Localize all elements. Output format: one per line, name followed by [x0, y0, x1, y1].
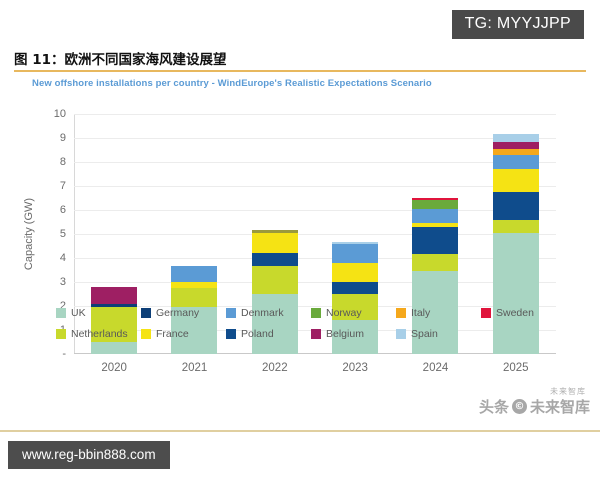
x-tick-label: 2020 [101, 362, 127, 374]
chart-subtitle: New offshore installations per country -… [32, 78, 432, 89]
legend-label: Germany [156, 307, 199, 319]
bar-segment-poland[interactable] [493, 192, 539, 220]
bar-segment-poland[interactable] [332, 282, 378, 294]
bar-segment-belgium[interactable] [493, 142, 539, 149]
y-tick-label: 10 [54, 108, 66, 120]
bar-segment-denmark[interactable] [412, 209, 458, 223]
legend-item-italy[interactable]: Italy [396, 307, 481, 319]
bar-segment-denmark[interactable] [171, 266, 217, 282]
y-tick-label: 9 [60, 132, 66, 144]
legend-item-denmark[interactable]: Denmark [226, 307, 311, 319]
y-tick-label: - [62, 348, 66, 360]
legend-item-germany[interactable]: Germany [141, 307, 226, 319]
legend-label: Netherlands [71, 328, 128, 340]
y-tick-label: 5 [60, 228, 66, 240]
cn-site-name: 未来智库 [530, 396, 590, 417]
y-tick-label: 7 [60, 180, 66, 192]
legend-swatch-icon [481, 308, 491, 318]
page-root: TG: MYYJJPP 图 11：欧洲不同国家海风建设展望 New offsho… [0, 0, 600, 480]
x-tick-label: 2024 [423, 362, 449, 374]
legend-swatch-icon [396, 308, 406, 318]
legend-swatch-icon [141, 329, 151, 339]
figure-title: 图 11：欧洲不同国家海风建设展望 [14, 48, 227, 68]
y-tick-label: 6 [60, 204, 66, 216]
legend-swatch-icon [226, 308, 236, 318]
cn-site-label: 头条 [479, 396, 509, 417]
x-tick-label: 2021 [182, 362, 208, 374]
legend-label: Italy [411, 307, 430, 319]
legend-label: Norway [326, 307, 362, 319]
x-tick-label: 2023 [342, 362, 368, 374]
legend-label: Sweden [496, 307, 534, 319]
legend-item-poland[interactable]: Poland [226, 328, 311, 340]
chart-legend: UKGermanyDenmarkNorwayItalySwedenNetherl… [56, 302, 566, 344]
legend-label: France [156, 328, 189, 340]
chart-panel: New offshore installations per country -… [14, 74, 586, 422]
bar-segment-poland[interactable] [252, 253, 298, 266]
y-axis-title: Capacity (GW) [22, 114, 36, 354]
y-tick-label: 4 [60, 252, 66, 264]
x-tick-label: 2022 [262, 362, 288, 374]
bar-segment-netherlands[interactable] [412, 254, 458, 271]
url-watermark: www.reg-bbin888.com [8, 441, 170, 469]
copyright-icon: © [512, 399, 527, 414]
bar-segment-norway[interactable] [412, 200, 458, 208]
legend-label: Poland [241, 328, 274, 340]
legend-swatch-icon [226, 329, 236, 339]
legend-item-france[interactable]: France [141, 328, 226, 340]
title-divider [14, 70, 586, 72]
legend-swatch-icon [311, 308, 321, 318]
footer-divider [0, 430, 600, 432]
legend-item-norway[interactable]: Norway [311, 307, 396, 319]
bar-segment-france[interactable] [332, 263, 378, 282]
bar-segment-poland[interactable] [412, 227, 458, 255]
x-tick-label: 2025 [503, 362, 529, 374]
legend-swatch-icon [396, 329, 406, 339]
legend-swatch-icon [141, 308, 151, 318]
y-tick-label: 8 [60, 156, 66, 168]
legend-item-spain[interactable]: Spain [396, 328, 481, 340]
legend-label: Denmark [241, 307, 284, 319]
legend-item-belgium[interactable]: Belgium [311, 328, 396, 340]
legend-label: Belgium [326, 328, 364, 340]
y-axis-title-text: Capacity (GW) [23, 198, 35, 270]
legend-item-uk[interactable]: UK [56, 307, 141, 319]
bar-segment-france[interactable] [493, 169, 539, 192]
legend-swatch-icon [56, 308, 66, 318]
bar-segment-france[interactable] [252, 233, 298, 253]
legend-item-sweden[interactable]: Sweden [481, 307, 566, 319]
cn-site-watermark: 头条 © 未来智库 [479, 396, 590, 417]
tg-tag-watermark: TG: MYYJJPP [452, 10, 584, 39]
y-tick-label: 3 [60, 276, 66, 288]
legend-swatch-icon [311, 329, 321, 339]
bar-segment-denmark[interactable] [493, 155, 539, 169]
bar-segment-denmark[interactable] [332, 244, 378, 263]
bar-segment-netherlands[interactable] [493, 220, 539, 233]
legend-item-netherlands[interactable]: Netherlands [56, 328, 141, 340]
legend-label: Spain [411, 328, 438, 340]
bar-segment-spain[interactable] [493, 134, 539, 141]
bar-segment-netherlands[interactable] [252, 266, 298, 294]
legend-label: UK [71, 307, 86, 319]
legend-swatch-icon [56, 329, 66, 339]
